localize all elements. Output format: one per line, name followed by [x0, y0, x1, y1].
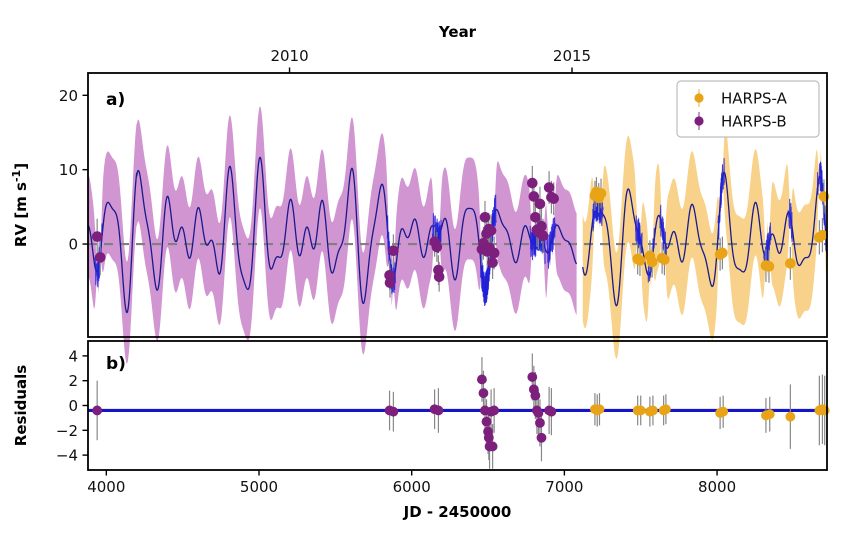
data-point: [434, 272, 444, 282]
y-axis-panel-a: 01020RV [m s-1]: [10, 87, 88, 254]
data-point: [486, 226, 496, 236]
data-point: [717, 248, 727, 258]
data-point: [635, 255, 645, 265]
data-point: [434, 406, 443, 415]
legend-marker-harps-a: [694, 93, 703, 102]
data-point: [785, 258, 795, 268]
data-point: [488, 442, 497, 451]
x-tick-label: 5000: [240, 478, 278, 496]
data-point: [535, 199, 545, 209]
data-point: [647, 257, 657, 267]
year-axis-title: Year: [438, 23, 477, 41]
data-point: [389, 407, 398, 416]
data-point: [817, 230, 827, 240]
y-tick-label-b: 4: [68, 347, 78, 365]
data-point: [820, 406, 829, 415]
y-axis-panel-b: −4−2024Residuals: [12, 347, 88, 464]
harps-a-uncertainty-band: [583, 127, 827, 359]
data-point: [432, 242, 442, 252]
data-point: [530, 212, 540, 222]
y-tick-label-a: 20: [59, 87, 78, 105]
data-point: [537, 433, 546, 442]
data-point: [536, 221, 546, 231]
data-point: [490, 406, 499, 415]
gp-band-harps-a: [583, 127, 827, 359]
data-point: [385, 278, 395, 288]
data-point: [765, 410, 774, 419]
x-tick-label: 4000: [87, 478, 125, 496]
y-axis-title-b: Residuals: [12, 365, 30, 446]
data-point: [786, 412, 795, 421]
data-point: [534, 408, 543, 417]
data-point: [489, 248, 499, 258]
y-tick-label-a: 10: [59, 161, 78, 179]
data-point: [535, 418, 544, 427]
rv-timeseries-figure: 40005000600070008000JD - 245000020102015…: [0, 0, 850, 550]
data-point: [92, 232, 102, 242]
data-point: [636, 406, 645, 415]
x-axis-bottom: 40005000600070008000JD - 2450000: [87, 470, 736, 521]
y-axis-title-a: RV [m s-1]: [10, 163, 30, 247]
data-point: [596, 188, 606, 198]
x-tick-label: 8000: [698, 478, 736, 496]
data-point: [549, 194, 559, 204]
data-point: [544, 183, 554, 193]
legend-marker-harps-b: [694, 116, 703, 125]
data-point: [648, 406, 657, 415]
data-point: [479, 388, 488, 397]
year-tick-label: 2010: [270, 47, 308, 65]
x-axis-top: 20102015Year: [270, 23, 591, 73]
y-tick-label-b: −2: [56, 422, 78, 440]
data-point: [93, 406, 102, 415]
x-axis-title: JD - 2450000: [403, 503, 512, 521]
legend-label-harps-b: HARPS-B: [721, 113, 787, 131]
data-point: [388, 246, 398, 256]
data-point: [528, 372, 537, 381]
x-tick-label: 7000: [545, 478, 583, 496]
panel-b-tag: b): [106, 354, 126, 374]
y-tick-label-b: 0: [68, 397, 78, 415]
data-point: [488, 258, 498, 268]
x-tick-label: 6000: [393, 478, 431, 496]
data-point: [764, 261, 774, 271]
data-point: [95, 252, 105, 262]
data-point: [482, 417, 491, 426]
figure-root: 40005000600070008000JD - 245000020102015…: [0, 0, 850, 550]
panel-b-border: [88, 341, 827, 470]
gp-band-harps-b: [88, 106, 577, 363]
legend[interactable]: HARPS-AHARPS-B: [677, 81, 819, 137]
data-point: [719, 407, 728, 416]
data-point: [538, 231, 548, 241]
data-point: [484, 433, 493, 442]
y-tick-label-b: 2: [68, 372, 78, 390]
data-point: [659, 255, 669, 265]
legend-label-harps-a: HARPS-A: [721, 90, 788, 108]
harps-b-uncertainty-band: [88, 106, 577, 363]
data-point: [480, 212, 490, 222]
data-point: [661, 405, 670, 414]
y-tick-label-b: −4: [56, 447, 78, 465]
panel-b-frame: [88, 341, 827, 470]
y-tick-label-a: 0: [68, 236, 78, 254]
data-point: [531, 391, 540, 400]
data-point: [595, 405, 604, 414]
panel-a-tag: a): [106, 90, 125, 110]
year-tick-label: 2015: [553, 47, 591, 65]
data-point: [547, 407, 556, 416]
data-point: [477, 375, 486, 384]
data-point: [527, 178, 537, 188]
